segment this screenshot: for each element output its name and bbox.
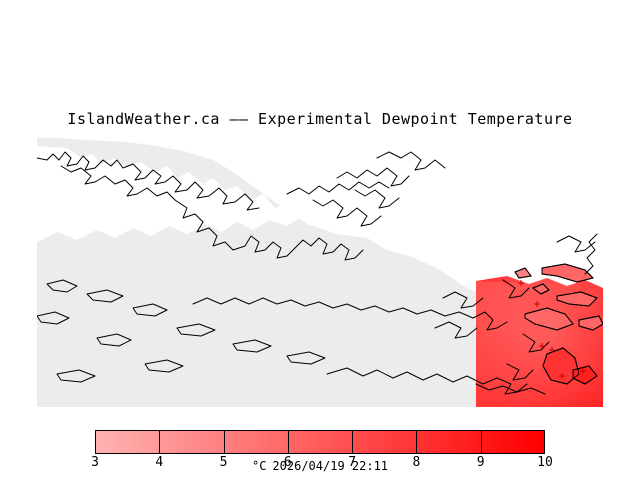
colorbar-tick-label: 4 [139,455,179,470]
page-title: IslandWeather.ca —— Experimental Dewpoin… [0,110,640,128]
colorbar-unit: °C [252,459,266,473]
colorbar-tick [352,430,353,454]
colorbar-tick-label: 5 [204,455,244,470]
colorbar-tick-label: 6 [268,455,308,470]
colorbar-tick [416,430,417,454]
colorbar-tick-label: 8 [396,455,436,470]
weather-map-page: IslandWeather.ca —— Experimental Dewpoin… [0,0,640,480]
colorbar-tick [481,430,482,454]
colorbar-tick-label: 9 [461,455,501,470]
colorbar-tick [288,430,289,454]
colorbar-tick-label: 3 [75,455,115,470]
colorbar [95,430,545,454]
coastline-map [37,138,603,407]
map-panel [37,138,603,407]
colorbar-tick-label: 10 [525,455,565,470]
colorbar-gradient [95,430,545,454]
colorbar-tick [159,430,160,454]
colorbar-tick [224,430,225,454]
colorbar-tick-label: 7 [332,455,372,470]
